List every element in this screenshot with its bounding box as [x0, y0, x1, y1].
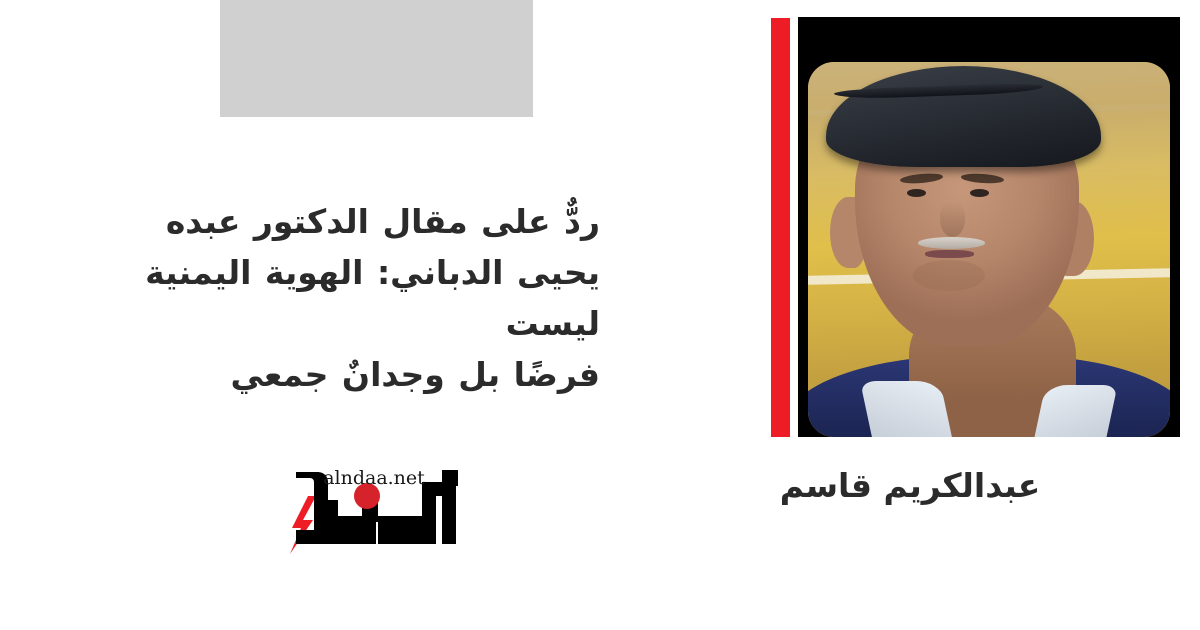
headline-block: ردٌّ على مقال الدكتور عبده يحيى الدباني:… — [60, 196, 600, 401]
site-logo[interactable]: alndaa.net — [282, 462, 464, 558]
logo-svg: alndaa.net — [282, 462, 464, 558]
red-accent-rule — [771, 18, 790, 437]
headline-line-3: فرضًا بل وجدانٌ جمعي — [60, 349, 600, 400]
photo-eyebrow-left — [900, 172, 943, 184]
share-card: ردٌّ على مقال الدكتور عبده يحيى الدباني:… — [0, 0, 1200, 630]
photo-eye-right — [970, 189, 989, 197]
photo-chin — [913, 260, 985, 291]
photo-collar-right — [1034, 385, 1118, 438]
photo-eye-left — [907, 189, 926, 197]
headline-line-1: ردٌّ على مقال الدكتور عبده — [60, 196, 600, 247]
photo-eyebrow-right — [960, 172, 1003, 184]
photo-mouth — [925, 250, 974, 258]
gray-placeholder-block — [220, 0, 533, 117]
logo-domain-text: alndaa.net — [323, 467, 425, 489]
photo-mustache — [918, 237, 985, 249]
headline-line-2: يحيى الدباني: الهوية اليمنية ليست — [60, 247, 600, 349]
portrait-frame — [798, 17, 1180, 437]
photo-nose — [940, 202, 965, 238]
portrait-photo — [808, 62, 1170, 437]
author-name: عبدالكريم قاسم — [700, 466, 1120, 505]
photo-collar-left — [860, 381, 952, 437]
lightning-bolt-icon — [290, 496, 316, 554]
